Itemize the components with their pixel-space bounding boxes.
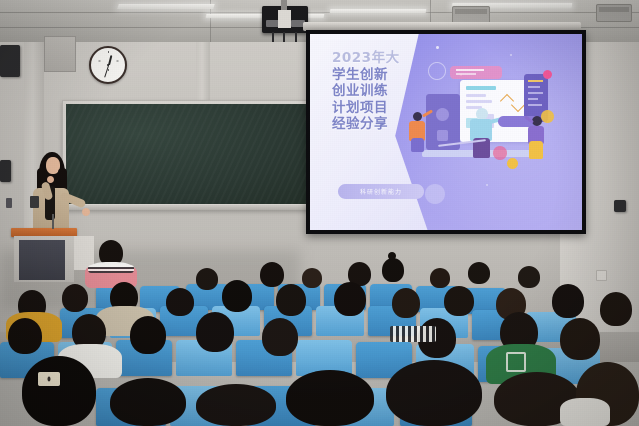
audience-collar-stripes xyxy=(88,265,134,273)
audience-head xyxy=(166,288,194,316)
audience-head xyxy=(130,316,166,354)
wall-outlet xyxy=(596,270,607,281)
audience-head xyxy=(260,262,284,287)
blackboard xyxy=(66,104,306,204)
presenter-hand xyxy=(47,176,54,183)
ceiling-light xyxy=(330,9,427,13)
audience-head xyxy=(334,282,366,316)
audience-head xyxy=(468,262,490,284)
projection-screen: 2023年大 学生创新 创业训练 计划项目 经验分享 科研创新能力 xyxy=(310,34,582,230)
ceiling-seam xyxy=(0,12,639,13)
projection-screen-frame: 2023年大 学生创新 创业训练 计划项目 经验分享 科研创新能力 xyxy=(306,30,586,234)
audience-head xyxy=(196,384,276,426)
wall-speaker xyxy=(614,200,626,212)
audience-head xyxy=(444,286,474,316)
audience-head xyxy=(302,268,322,288)
ceiling-speaker xyxy=(596,4,632,22)
audience-head xyxy=(392,288,420,318)
audience-head xyxy=(62,284,88,312)
slide-title-line: 学生创新 xyxy=(332,67,442,84)
audience-head xyxy=(22,356,96,426)
presenter-hand xyxy=(82,208,90,216)
podium-front-panel xyxy=(19,240,65,280)
audience-head xyxy=(262,318,298,356)
audience-head xyxy=(382,258,404,282)
audience-shoulders xyxy=(560,398,610,426)
slide-subtitle-label: 科研创新能力 xyxy=(360,187,402,196)
slide-subtitle-button: 科研创新能力 xyxy=(338,184,424,199)
desk-equipment xyxy=(30,196,39,208)
audience-head xyxy=(8,318,42,354)
chalk-tray xyxy=(62,205,310,210)
audience-head xyxy=(518,266,540,288)
slide-title-line: 经验分享 xyxy=(332,116,442,133)
audience-head xyxy=(110,378,186,426)
audience-head xyxy=(222,280,252,312)
audience-head xyxy=(560,318,600,360)
microphone-stem xyxy=(52,214,54,229)
audience-head xyxy=(286,370,374,426)
audience-head xyxy=(430,268,450,288)
spiral-notebook xyxy=(390,326,436,342)
audience-head xyxy=(276,284,306,316)
wall-speaker xyxy=(0,160,11,182)
slide-title-line: 计划项目 xyxy=(332,100,442,117)
slide-title-line: 创业训练 xyxy=(332,83,442,100)
clock-minute-hand xyxy=(104,65,109,78)
audience-head xyxy=(196,268,218,290)
desk-equipment xyxy=(6,198,12,208)
wall-speaker xyxy=(0,45,20,77)
projector-mount-bracket xyxy=(278,10,291,28)
audience-head xyxy=(386,360,482,426)
hair-clip xyxy=(38,372,60,386)
slide-title: 2023年大 学生创新 创业训练 计划项目 经验分享 xyxy=(332,50,442,133)
audience-head xyxy=(552,284,584,318)
lecture-hall-photo: 2023年大 学生创新 创业训练 计划项目 经验分享 科研创新能力 xyxy=(0,0,639,426)
slide-title-year: 2023年大 xyxy=(332,50,400,66)
audience-head xyxy=(600,292,632,326)
wall-clock xyxy=(89,46,127,84)
wall-vent xyxy=(44,36,76,72)
audience-hair-bun xyxy=(388,252,396,260)
ceiling-light xyxy=(117,4,214,9)
jacket-logo xyxy=(506,352,526,372)
audience-head xyxy=(196,312,234,352)
